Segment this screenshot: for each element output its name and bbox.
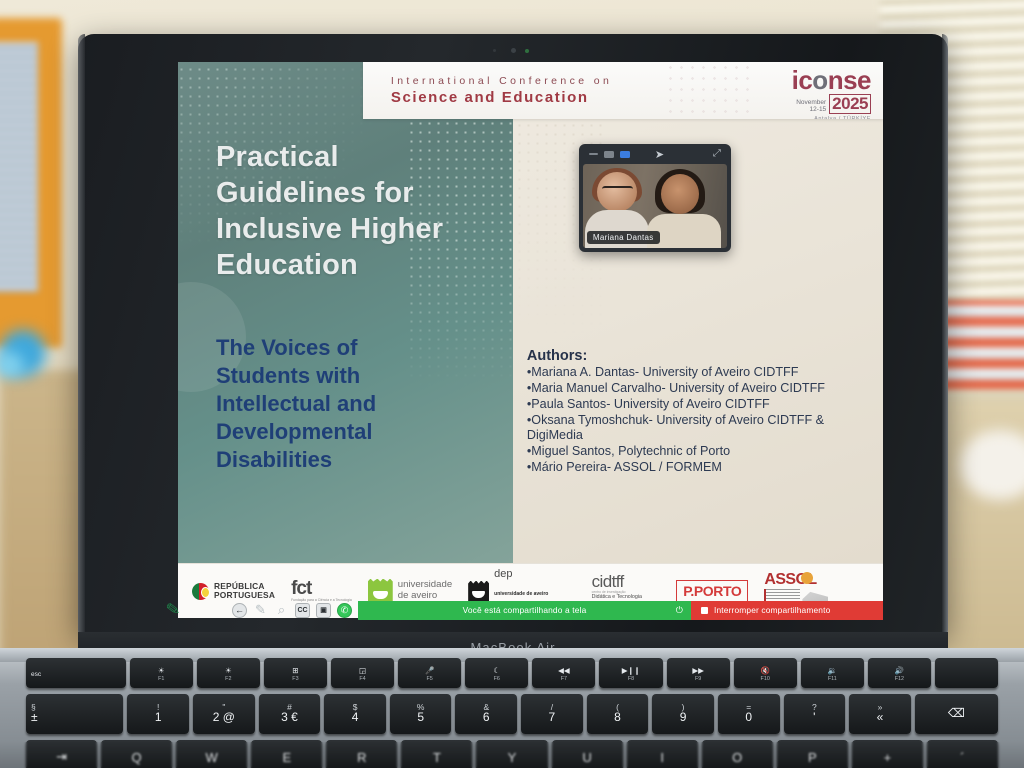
key-⌫[interactable]: ⌫ [915,694,998,734]
key-label: + [884,750,892,765]
slide-left-panel: Practical Guidelines for Inclusive Highe… [178,62,513,563]
key-f2[interactable]: ☀F2 [197,658,260,688]
slide-subtitle-line: Intellectual and [216,390,513,418]
laptop: Practical Guidelines for Inclusive Highe… [78,34,948,634]
key-glyph: ▶❙❙ [622,666,640,675]
key-glyph: ◀◀ [558,666,570,675]
author-item: •Miguel Santos, Polytechnic of Porto [527,444,869,460]
view-grid-icon[interactable] [620,151,630,158]
presentation-slide: Practical Guidelines for Inclusive Highe… [178,62,883,618]
key-f10[interactable]: 🔇F10 [734,658,797,688]
iconse-logo: iconse November 12-15 2025 Antalya / TÜR… [751,68,871,119]
key-0[interactable]: =0 [718,694,780,734]
logo-republica-portuguesa: REPÚBLICA PORTUGUESA [192,582,275,601]
key-label: Q [132,750,142,765]
key-label: O [732,750,742,765]
key-glyph: ☾ [493,666,500,675]
key-fn-label: F2 [225,676,231,682]
share-toolbar-icons[interactable]: ← ✎ ⌕ CC ▣ ✆ [178,603,352,618]
annotate-pen-icon[interactable]: ✎ [253,603,268,618]
iconse-days: 12-15 [796,106,826,113]
key-label: Y [508,750,517,765]
key-f9[interactable]: ▶▶F9 [667,658,730,688]
window-blinds-left [0,42,38,292]
iconse-date-row: November 12-15 2025 [751,94,871,114]
phone-icon[interactable]: ✆ [337,603,352,618]
dep-line-1: universidade de aveiro [494,591,548,597]
key-w[interactable]: W [176,740,247,768]
key-label: 2 @ [213,711,235,725]
key-fn-label: F7 [561,676,567,682]
participant-b-face [661,174,699,214]
lid-edge-right [942,34,948,634]
iconse-year: 2025 [829,94,871,114]
key-+[interactable]: + [852,740,923,768]
key-3€[interactable]: #3 € [259,694,321,734]
key-glyph: ⊞ [292,666,298,675]
conference-title-block: International Conference on Science and … [391,75,612,106]
key-glyph: 🎤 [425,666,434,675]
slide-subtitle-line: Disabilities [216,446,513,474]
key-fn-label: F5 [427,676,433,682]
key-label: 8 [614,711,621,725]
stop-sharing-label: Interromper compartilhamento [714,605,830,615]
pause-share-icon[interactable]: ⏻ [676,605,683,616]
key-label: P [808,750,817,765]
slide-title-line: Education [216,248,513,284]
key-6[interactable]: &6 [455,694,517,734]
key-fn-label: F3 [292,676,298,682]
key-label: I [660,750,664,765]
key-f6[interactable]: ☾F6 [465,658,528,688]
ambient-sensor-icon [493,49,496,52]
key-fn-label: F4 [359,676,365,682]
iconse-word-part3: nse [828,65,871,95]
key-label: 1 [155,711,162,725]
slide-subtitle-line: Developmental [216,418,513,446]
back-icon[interactable]: ← [232,603,247,618]
key-esc[interactable]: esc [26,658,126,688]
key-f8[interactable]: ▶❙❙F8 [599,658,662,688]
key-label: « [877,711,884,725]
authors-heading: Authors: [527,348,869,364]
slide-title: Practical Guidelines for Inclusive Highe… [216,140,513,284]
key-«[interactable]: »« [849,694,911,734]
keyboard-letter-row[interactable]: ⇥QWERTYUIOP+´ [0,740,1024,768]
author-item: •Oksana Tymoshchuk- University of Aveiro… [527,413,869,445]
key-blank[interactable] [935,658,998,688]
key-f4[interactable]: ◲F4 [331,658,394,688]
key-label: ± [31,711,38,725]
key-±[interactable]: §± [26,694,123,734]
ua-line-1: universidade [398,579,452,590]
iconse-word-part2: o [812,65,827,95]
iconse-month: November [796,99,826,106]
key-f3[interactable]: ⊞F3 [264,658,327,688]
video-call-window[interactable]: ➤ ⤢ Mariana Dantas [579,144,731,252]
slide-title-line: Inclusive Higher [216,212,513,248]
key-5[interactable]: %5 [390,694,452,734]
video-feed[interactable]: Mariana Dantas [583,164,727,248]
key-label: E [282,750,291,765]
key-7[interactable]: /7 [521,694,583,734]
key-fn-label: F10 [761,676,770,682]
key-fn-label: F9 [695,676,701,682]
key-glyph: 🔊 [895,666,904,675]
republica-portuguesa-text: REPÚBLICA PORTUGUESA [214,582,275,601]
key-p[interactable]: P [777,740,848,768]
key-f5[interactable]: 🎤F5 [398,658,461,688]
key-q[interactable]: Q [101,740,172,768]
lid-edge-left [78,34,85,634]
closed-caption-icon[interactable]: CC [295,603,310,618]
key-fn-label: F11 [828,676,837,682]
key-label: 3 € [281,711,298,725]
key-label: 7 [549,711,556,725]
key-fn-label: F8 [628,676,634,682]
magnifier-icon[interactable]: ⌕ [274,603,289,618]
conference-header-band: International Conference on Science and … [363,62,883,119]
laptop-screen: Practical Guidelines for Inclusive Highe… [178,62,883,618]
key-glyph: ☀ [225,666,232,675]
pencil-icon[interactable]: ✎ [165,599,182,621]
author-item: •Paula Santos- University of Aveiro CIDT… [527,397,869,413]
webcam-icon [511,48,516,53]
key-fn-label: F1 [158,676,164,682]
key-glyph: ☀ [158,666,165,675]
key-'[interactable]: ?' [784,694,846,734]
key-f12[interactable]: 🔊F12 [868,658,931,688]
key-label: 9 [680,711,687,725]
key-f11[interactable]: 🔉F11 [801,658,864,688]
key-f1[interactable]: ☀F1 [130,658,193,688]
key-label: ´ [960,750,964,765]
keyboard-number-row[interactable]: §±!1"2 @#3 €$4%5&6/7(8)9=0?'»«⌫ [0,694,1024,734]
header-dot-pattern [665,62,755,119]
video-camera-icon[interactable]: ▣ [316,603,331,618]
screen-share-toolbar[interactable]: ← ✎ ⌕ CC ▣ ✆ Você está compartilhando a … [178,600,883,620]
view-minimal-icon[interactable] [589,153,598,156]
key-label: 4 [352,711,359,725]
sharing-status-label: Você está compartilhando a tela [463,605,587,615]
view-single-icon[interactable] [604,151,614,158]
keyboard-function-row[interactable]: esc☀F1☀F2⊞F3◲F4🎤F5☾F6◀◀F7▶❙❙F8▶▶F9🔇F10🔉F… [0,658,1024,688]
author-item: •Mário Pereira- ASSOL / FORMEM [527,460,869,476]
portugal-flag-icon [192,583,209,600]
iconse-wordmark: iconse [751,68,871,93]
key-9[interactable]: )9 [652,694,714,734]
iconse-location: Antalya / TÜRKİYE [751,116,871,119]
key-label: 6 [483,711,490,725]
author-item: •Maria Manuel Carvalho- University of Av… [527,381,869,397]
stop-sharing-button[interactable]: Interromper compartilhamento [691,601,883,620]
key-1[interactable]: !1 [127,694,189,734]
key-y[interactable]: Y [476,740,547,768]
key-glyph: esc [31,671,41,678]
laptop-base: esc☀F1☀F2⊞F3◲F4🎤F5☾F6◀◀F7▶❙❙F8▶▶F9🔇F10🔉F… [0,648,1024,768]
key-label: ⌫ [948,707,965,721]
iconse-month-block: November 12-15 [796,99,826,114]
key-u[interactable]: U [552,740,623,768]
webcam-indicator-icon [525,49,529,53]
key-4[interactable]: $4 [324,694,386,734]
sharing-status-banner[interactable]: Você está compartilhando a tela ⏻ [358,601,691,620]
cidtff-wordmark: cidtff [592,574,624,590]
key-label: R [357,750,366,765]
universidade-aveiro-text: universidade de aveiro [398,580,452,602]
key-glyph: 🔉 [828,666,837,675]
key-´[interactable]: ´ [927,740,998,768]
logo-p-porto: P.PORTO [676,580,748,602]
key-8[interactable]: (8 [587,694,649,734]
cursor-icon: ➤ [655,148,664,161]
key-glyph: 🔇 [761,666,770,675]
fct-wordmark: fct [291,580,311,597]
authors-block: Authors: •Mariana A. Dantas- University … [527,348,869,476]
key-label: W [206,750,218,765]
key-fn-label: F6 [494,676,500,682]
conference-line-1: International Conference on [391,75,612,87]
key-label: ' [813,711,815,725]
key-2@[interactable]: "2 @ [193,694,255,734]
author-item: •Mariana A. Dantas- University of Aveiro… [527,365,869,381]
expand-icon[interactable]: ⤢ [713,148,721,159]
key-glyph: ◲ [359,666,366,675]
key-f7[interactable]: ◀◀F7 [532,658,595,688]
key-o[interactable]: O [702,740,773,768]
conference-line-2: Science and Education [391,89,612,106]
key-t[interactable]: T [401,740,472,768]
key-fn-label: F12 [895,676,904,682]
stop-square-icon [701,607,708,614]
slide-right-panel [513,62,883,563]
key-label: ⇥ [56,749,67,765]
key-label: T [433,750,441,765]
participant-name-label: Mariana Dantas [587,231,660,244]
key-⇥[interactable]: ⇥ [26,740,97,768]
rp-line-2: PORTUGUESA [214,590,275,600]
key-i[interactable]: I [627,740,698,768]
slide-subtitle-line: The Voices of [216,334,513,362]
dep-wordmark: dep [494,568,512,580]
iconse-word-part1: ic [792,65,813,95]
slide-subtitle: The Voices of Students with Intellectual… [216,334,513,474]
dep-mark-icon [468,581,489,602]
key-label: U [582,750,591,765]
slide-title-line: Guidelines for [216,176,513,212]
key-glyph: ▶▶ [692,666,704,675]
slide-title-line: Practical [216,140,513,176]
logo-fct: fct Fundação para a Ciência e a Tecnolog… [291,580,352,602]
key-r[interactable]: R [326,740,397,768]
key-label: 0 [745,711,752,725]
video-window-titlebar[interactable]: ➤ ⤢ [583,144,727,164]
key-e[interactable]: E [251,740,322,768]
key-label: 5 [417,711,424,725]
slide-subtitle-line: Students with [216,362,513,390]
glasses-icon [602,186,633,193]
